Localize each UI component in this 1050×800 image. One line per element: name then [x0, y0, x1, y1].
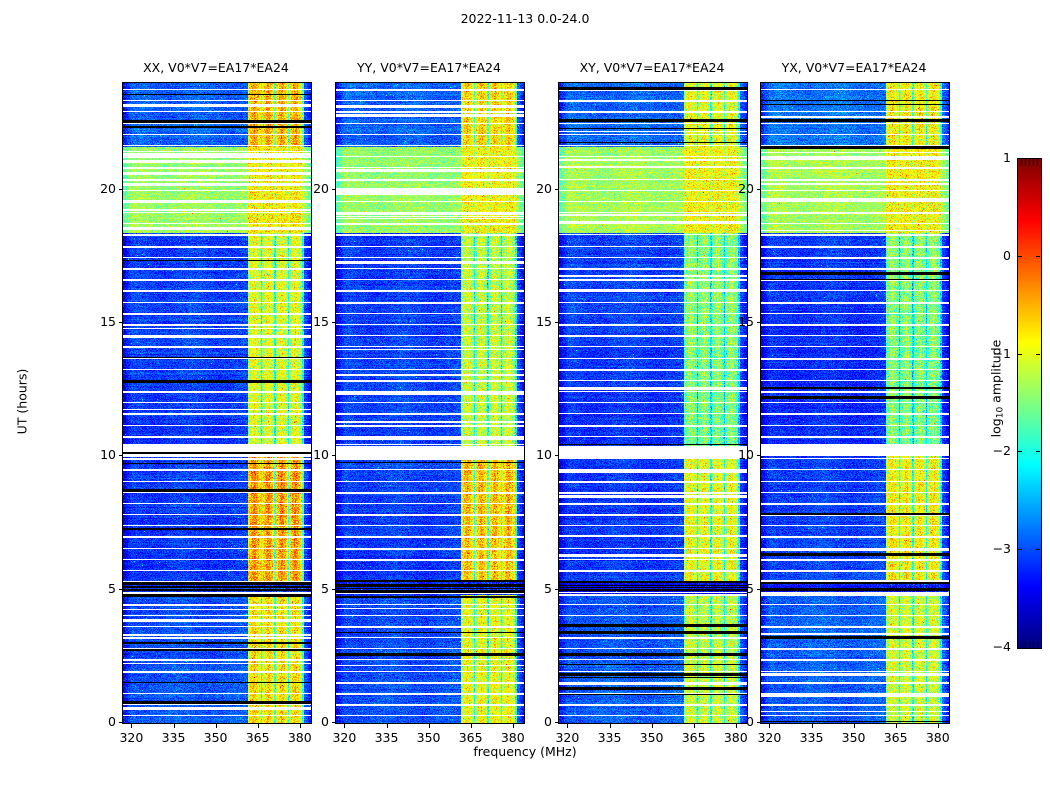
spectrogram-panel-yx[interactable] [760, 82, 950, 724]
y-tick-label: 5 [76, 581, 116, 596]
x-tick-mark [471, 724, 472, 728]
y-tick-mark [332, 589, 336, 590]
y-tick-mark [757, 589, 761, 590]
y-tick-mark [555, 189, 559, 190]
x-tick-mark [387, 724, 388, 728]
y-tick-label: 0 [714, 714, 754, 729]
x-tick-mark [131, 724, 132, 728]
y-tick-mark [119, 722, 123, 723]
y-tick-mark [332, 322, 336, 323]
y-tick-label: 15 [512, 314, 552, 329]
colorbar-tick-label: 0 [969, 248, 1011, 263]
spectrogram-panel-xx[interactable] [122, 82, 312, 724]
y-tick-label: 20 [512, 181, 552, 196]
y-tick-mark [332, 189, 336, 190]
colorbar-tick-label: −3 [969, 541, 1011, 556]
y-tick-label: 20 [76, 181, 116, 196]
x-tick-mark [258, 724, 259, 728]
colorbar-tick-mark [1018, 256, 1022, 257]
x-tick-mark [610, 724, 611, 728]
figure-suptitle: 2022-11-13 0.0-24.0 [0, 11, 1050, 26]
y-tick-mark [757, 322, 761, 323]
panel-title-yx: YX, V0*V7=EA17*EA24 [720, 60, 988, 75]
colorbar-gradient [1018, 159, 1041, 648]
colorbar-tick-mark [1036, 549, 1040, 550]
x-tick-mark [216, 724, 217, 728]
spectrogram-panel-yy[interactable] [335, 82, 525, 724]
y-tick-mark [555, 589, 559, 590]
y-tick-label: 5 [714, 581, 754, 596]
y-tick-label: 20 [289, 181, 329, 196]
colorbar-tick-label: −4 [969, 639, 1011, 654]
y-tick-label: 15 [76, 314, 116, 329]
y-tick-label: 10 [512, 447, 552, 462]
y-tick-mark [555, 455, 559, 456]
y-tick-mark [332, 455, 336, 456]
x-tick-label: 380 [908, 730, 968, 745]
x-tick-mark [174, 724, 175, 728]
colorbar-tick-mark [1018, 451, 1022, 452]
figure-canvas: 2022-11-13 0.0-24.0 XX, V0*V7=EA17*EA243… [0, 0, 1050, 800]
x-tick-label: 380 [483, 730, 543, 745]
y-tick-label: 10 [76, 447, 116, 462]
colorbar-tick-mark [1018, 354, 1022, 355]
colorbar [1017, 158, 1042, 649]
y-tick-label: 20 [714, 181, 754, 196]
y-tick-label: 10 [714, 447, 754, 462]
y-tick-mark [555, 322, 559, 323]
y-tick-mark [757, 455, 761, 456]
x-tick-mark [812, 724, 813, 728]
y-tick-mark [555, 722, 559, 723]
x-tick-mark [344, 724, 345, 728]
y-tick-mark [757, 722, 761, 723]
x-tick-mark [429, 724, 430, 728]
y-tick-label: 0 [289, 714, 329, 729]
y-tick-mark [119, 189, 123, 190]
y-tick-mark [119, 589, 123, 590]
y-tick-mark [119, 455, 123, 456]
x-tick-mark [694, 724, 695, 728]
y-tick-label: 15 [289, 314, 329, 329]
y-tick-label: 0 [512, 714, 552, 729]
colorbar-tick-mark [1036, 451, 1040, 452]
spectrogram-panel-xy[interactable] [558, 82, 748, 724]
x-tick-mark [652, 724, 653, 728]
colorbar-tick-label: 1 [969, 150, 1011, 165]
y-tick-label: 5 [512, 581, 552, 596]
y-tick-mark [119, 322, 123, 323]
y-tick-mark [757, 189, 761, 190]
colorbar-label: log10 amplitude [989, 308, 1006, 468]
x-tick-mark [896, 724, 897, 728]
y-tick-mark [332, 722, 336, 723]
y-axis-label: UT (hours) [15, 342, 30, 462]
colorbar-tick-mark [1018, 549, 1022, 550]
x-tick-mark [567, 724, 568, 728]
x-tick-mark [854, 724, 855, 728]
y-tick-label: 0 [76, 714, 116, 729]
y-tick-label: 15 [714, 314, 754, 329]
y-tick-label: 10 [289, 447, 329, 462]
colorbar-tick-mark [1036, 256, 1040, 257]
x-tick-mark [938, 724, 939, 728]
x-tick-mark [769, 724, 770, 728]
x-axis-label: frequency (MHz) [0, 744, 1050, 759]
colorbar-tick-mark [1036, 354, 1040, 355]
y-tick-label: 5 [289, 581, 329, 596]
